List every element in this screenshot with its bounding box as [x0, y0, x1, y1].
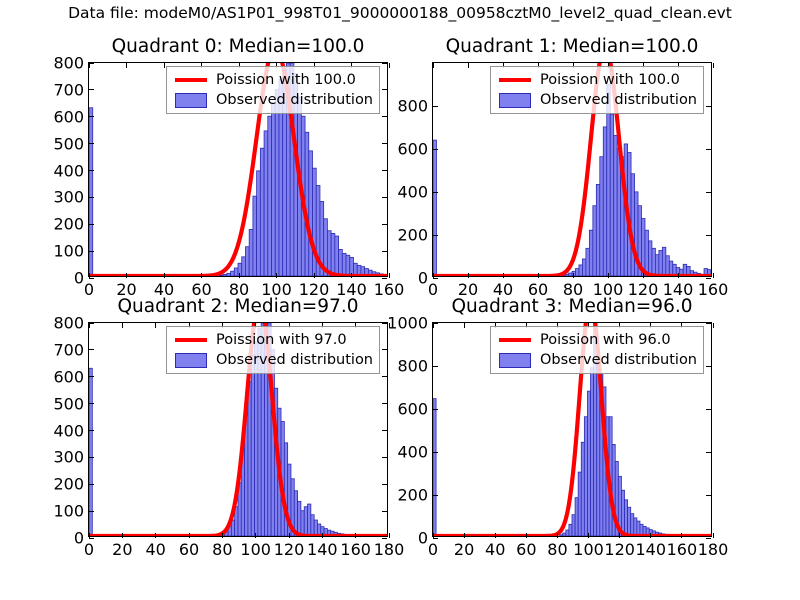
x-tick-mark — [255, 533, 256, 538]
histogram-bar — [566, 530, 569, 536]
x-tick-mark — [276, 273, 277, 278]
histogram-bar — [586, 248, 589, 276]
y-tick-mark — [382, 376, 387, 377]
histogram-bar — [260, 148, 264, 276]
x-tick-label: 120 — [604, 540, 635, 559]
panel-title: Quadrant 0: Median=100.0 — [88, 36, 388, 57]
x-tick-label: 40 — [485, 540, 505, 559]
x-tick-mark — [351, 273, 352, 278]
legend-line-key — [496, 78, 534, 83]
x-tick-mark — [526, 533, 527, 538]
histogram-bar — [331, 233, 335, 276]
y-tick-label: 0 — [418, 529, 428, 548]
histogram-bar — [569, 273, 572, 276]
x-tick-label: 20 — [454, 540, 474, 559]
x-tick-mark — [314, 273, 315, 278]
y-tick-mark — [89, 143, 94, 144]
histogram-bar — [234, 268, 238, 276]
y-tick-mark — [382, 63, 387, 64]
x-tick-mark — [164, 63, 165, 68]
y-tick-mark — [706, 106, 711, 107]
histogram-bar — [342, 253, 346, 276]
histogram-bar — [569, 524, 572, 536]
histogram-bar — [245, 247, 249, 276]
y-tick-label: 100 — [53, 502, 84, 521]
panel-title: Quadrant 1: Median=100.0 — [432, 36, 712, 57]
histogram-bar — [584, 417, 587, 536]
x-tick-mark — [495, 533, 496, 538]
x-tick-mark — [322, 533, 323, 538]
y-tick-label: 200 — [397, 226, 428, 245]
x-tick-mark — [126, 273, 127, 278]
x-tick-mark — [503, 273, 504, 278]
y-tick-label: 600 — [397, 140, 428, 159]
histogram-bar — [257, 171, 261, 276]
histogram-bar — [634, 518, 637, 536]
y-tick-label: 400 — [53, 421, 84, 440]
y-tick-mark — [433, 149, 438, 150]
legend-box: Poission with 100.0 Observed distributio… — [490, 66, 704, 114]
legend-box: Poission with 100.0 Observed distributio… — [166, 66, 380, 114]
x-tick-mark — [678, 273, 679, 278]
y-tick-label: 400 — [397, 443, 428, 462]
y-tick-mark — [433, 452, 438, 453]
y-tick-mark — [706, 323, 711, 324]
y-tick-mark — [89, 251, 94, 252]
x-tick-mark — [643, 273, 644, 278]
y-tick-label: 300 — [53, 188, 84, 207]
histogram-bar — [591, 368, 594, 536]
histogram-bar — [582, 259, 585, 276]
y-tick-mark — [89, 63, 94, 64]
histogram-bar — [575, 498, 578, 536]
y-tick-label: 200 — [53, 475, 84, 494]
legend-patch-key — [172, 93, 210, 108]
legend-patch-key — [172, 353, 210, 368]
histogram-bar — [596, 184, 599, 276]
x-tick-mark — [389, 533, 390, 538]
histogram-bar — [327, 231, 331, 276]
histogram-bar — [659, 250, 662, 276]
y-tick-mark — [89, 457, 94, 458]
legend-label-poisson: Poission with 96.0 — [540, 332, 671, 348]
x-tick-label: 40 — [145, 540, 165, 559]
y-tick-mark — [382, 197, 387, 198]
y-tick-mark — [382, 116, 387, 117]
histogram-bar — [346, 255, 350, 276]
y-tick-mark — [706, 235, 711, 236]
y-tick-mark — [433, 538, 438, 539]
x-tick-mark — [468, 273, 469, 278]
y-tick-mark — [382, 170, 387, 171]
x-tick-mark — [464, 323, 465, 328]
histogram-bar — [268, 116, 272, 276]
histogram-bar — [313, 168, 317, 276]
x-tick-mark — [713, 63, 714, 68]
y-tick-mark — [382, 278, 387, 279]
y-tick-mark — [89, 511, 94, 512]
x-tick-mark — [222, 533, 223, 538]
legend-row-observed: Observed distribution — [172, 350, 373, 370]
y-tick-mark — [89, 538, 94, 539]
y-tick-mark — [382, 323, 387, 324]
panel-title: Quadrant 3: Median=96.0 — [432, 296, 712, 317]
x-tick-label: 100 — [240, 540, 271, 559]
x-tick-label: 160 — [667, 540, 698, 559]
histogram-bar — [579, 265, 582, 276]
legend-row-observed: Observed distribution — [172, 90, 373, 110]
histogram-bar — [251, 355, 254, 536]
y-tick-label: 400 — [397, 183, 428, 202]
x-tick-mark — [464, 533, 465, 538]
y-tick-mark — [706, 409, 711, 410]
y-tick-label: 600 — [53, 107, 84, 126]
x-tick-mark — [389, 273, 390, 278]
x-tick-label: 160 — [340, 540, 371, 559]
histogram-bar — [304, 507, 307, 536]
x-tick-mark — [89, 273, 90, 278]
legend-row-poisson: Poission with 100.0 — [496, 70, 697, 90]
histogram-bar — [264, 131, 268, 276]
y-tick-mark — [89, 349, 94, 350]
y-tick-mark — [89, 484, 94, 485]
legend-row-poisson: Poission with 96.0 — [496, 330, 697, 350]
y-tick-mark — [433, 366, 438, 367]
y-tick-mark — [89, 197, 94, 198]
y-tick-mark — [89, 89, 94, 90]
x-tick-mark — [433, 63, 434, 68]
x-tick-mark — [89, 63, 90, 68]
histogram-bar — [637, 521, 640, 536]
histogram-bar — [572, 515, 575, 536]
y-tick-mark — [89, 403, 94, 404]
y-tick-mark — [382, 538, 387, 539]
y-tick-mark — [433, 323, 438, 324]
y-tick-mark — [382, 430, 387, 431]
figure-canvas: Data file: modeM0/AS1P01_998T01_90000001… — [0, 0, 800, 600]
panel-quadrant-0: Quadrant 0: Median=100.0 010020030040050… — [88, 62, 388, 277]
legend-row-observed: Observed distribution — [496, 90, 697, 110]
histogram-bar — [610, 114, 613, 276]
histogram-bar — [587, 391, 590, 536]
y-tick-mark — [382, 403, 387, 404]
legend-row-poisson: Poission with 100.0 — [172, 70, 373, 90]
y-tick-mark — [89, 116, 94, 117]
x-tick-mark — [122, 533, 123, 538]
histogram-bar — [308, 504, 311, 536]
x-tick-mark — [557, 533, 558, 538]
y-tick-mark — [382, 457, 387, 458]
histogram-bar — [631, 174, 634, 276]
y-tick-label: 200 — [53, 215, 84, 234]
histogram-bar — [652, 248, 655, 276]
histogram-bar — [275, 90, 279, 276]
y-tick-label: 800 — [53, 314, 84, 333]
histogram-bar — [223, 274, 227, 276]
y-tick-mark — [433, 192, 438, 193]
x-tick-mark — [433, 533, 434, 538]
histogram-bar — [589, 230, 592, 276]
histogram-bar — [339, 249, 343, 276]
y-tick-mark — [382, 349, 387, 350]
x-tick-mark — [713, 533, 714, 538]
x-tick-label: 0 — [428, 540, 438, 559]
histogram-bar — [648, 241, 651, 276]
histogram-bar — [335, 236, 339, 276]
x-tick-mark — [164, 273, 165, 278]
x-tick-mark — [389, 63, 390, 68]
legend-label-observed: Observed distribution — [540, 352, 697, 368]
x-tick-mark — [189, 533, 190, 538]
y-tick-label: 100 — [53, 242, 84, 261]
y-tick-mark — [382, 89, 387, 90]
histogram-bar — [578, 472, 581, 536]
x-tick-mark — [433, 323, 434, 328]
y-tick-mark — [433, 278, 438, 279]
x-tick-label: 100 — [573, 540, 604, 559]
y-tick-label: 300 — [53, 448, 84, 467]
y-tick-label: 500 — [53, 394, 84, 413]
x-tick-mark — [713, 273, 714, 278]
histogram-bar — [311, 515, 314, 536]
histogram-bar — [603, 127, 606, 276]
histogram-bar — [593, 206, 596, 276]
x-tick-mark — [681, 533, 682, 538]
legend-line-key — [172, 78, 210, 83]
y-tick-mark — [89, 430, 94, 431]
y-tick-mark — [433, 495, 438, 496]
histogram-bar — [669, 261, 672, 276]
y-tick-label: 0 — [418, 269, 428, 288]
x-tick-mark — [289, 533, 290, 538]
histogram-bar — [631, 514, 634, 536]
panel-quadrant-2: Quadrant 2: Median=97.0 0100200300400500… — [88, 322, 388, 537]
y-tick-label: 700 — [53, 340, 84, 359]
x-tick-mark — [538, 273, 539, 278]
y-tick-mark — [89, 278, 94, 279]
x-tick-label: 60 — [516, 540, 536, 559]
legend-box: Poission with 97.0 Observed distribution — [166, 326, 380, 374]
y-tick-mark — [89, 170, 94, 171]
legend-label-poisson: Poission with 97.0 — [216, 332, 347, 348]
histogram-bar — [242, 257, 246, 276]
x-tick-label: 60 — [179, 540, 199, 559]
histogram-bar — [655, 255, 658, 276]
y-tick-label: 800 — [53, 54, 84, 73]
legend-patch-key — [496, 93, 534, 108]
x-tick-mark — [468, 63, 469, 68]
histogram-bar — [298, 501, 301, 536]
x-tick-label: 80 — [212, 540, 232, 559]
y-tick-label: 400 — [53, 161, 84, 180]
legend-label-poisson: Poission with 100.0 — [216, 72, 356, 88]
legend-line-key — [496, 338, 534, 343]
y-tick-mark — [433, 106, 438, 107]
x-tick-mark — [608, 273, 609, 278]
y-tick-mark — [706, 278, 711, 279]
x-tick-mark — [126, 63, 127, 68]
x-tick-mark — [650, 533, 651, 538]
y-tick-label: 200 — [397, 486, 428, 505]
histogram-bar — [614, 135, 617, 276]
histogram-bar — [645, 230, 648, 276]
y-tick-label: 800 — [397, 357, 428, 376]
y-tick-label: 0 — [74, 269, 84, 288]
legend-row-poisson: Poission with 97.0 — [172, 330, 373, 350]
y-tick-label: 600 — [397, 400, 428, 419]
histogram-bar — [301, 511, 304, 536]
histogram-bar — [272, 103, 276, 276]
x-tick-label: 0 — [84, 540, 94, 559]
x-tick-mark — [239, 273, 240, 278]
y-tick-mark — [382, 484, 387, 485]
x-tick-mark — [155, 323, 156, 328]
histogram-bar — [227, 273, 231, 276]
histogram-bar — [565, 274, 568, 276]
y-tick-mark — [706, 452, 711, 453]
y-tick-mark — [382, 511, 387, 512]
y-tick-mark — [706, 192, 711, 193]
y-tick-label: 500 — [53, 134, 84, 153]
x-tick-label: 20 — [112, 540, 132, 559]
x-tick-label: 80 — [547, 540, 567, 559]
histogram-bar — [621, 490, 624, 536]
legend-patch-key — [496, 353, 534, 368]
y-tick-label: 800 — [397, 97, 428, 116]
histogram-bar — [249, 229, 253, 276]
histogram-bar — [433, 140, 436, 276]
panel-quadrant-1: Quadrant 1: Median=100.0 020040060080002… — [432, 62, 712, 277]
y-tick-mark — [89, 376, 94, 377]
y-tick-label: 0 — [74, 529, 84, 548]
x-tick-mark — [89, 323, 90, 328]
histogram-bar — [309, 151, 313, 276]
histogram-bar — [666, 256, 669, 276]
x-tick-mark — [433, 273, 434, 278]
x-tick-label: 140 — [307, 540, 338, 559]
y-tick-mark — [433, 409, 438, 410]
legend-label-poisson: Poission with 100.0 — [540, 72, 680, 88]
y-tick-label: 700 — [53, 80, 84, 99]
y-tick-mark — [89, 224, 94, 225]
y-tick-mark — [382, 251, 387, 252]
x-tick-mark — [355, 533, 356, 538]
histogram-bar — [433, 399, 436, 536]
legend-label-observed: Observed distribution — [216, 92, 373, 108]
legend-row-observed: Observed distribution — [496, 350, 697, 370]
histogram-bar — [625, 500, 628, 536]
y-tick-label: 1000 — [387, 314, 428, 333]
histogram-bar — [231, 271, 235, 276]
x-tick-mark — [713, 323, 714, 328]
x-tick-mark — [573, 273, 574, 278]
histogram-bar — [628, 507, 631, 536]
histogram-bar — [600, 157, 603, 276]
histogram-bar — [662, 247, 665, 276]
histogram-bar — [560, 535, 563, 536]
x-tick-mark — [201, 273, 202, 278]
y-tick-mark — [382, 143, 387, 144]
histogram-bar — [563, 533, 566, 536]
x-tick-label: 180 — [374, 540, 405, 559]
y-tick-mark — [706, 366, 711, 367]
histogram-bar — [581, 442, 584, 536]
y-tick-mark — [706, 538, 711, 539]
x-tick-mark — [155, 533, 156, 538]
y-tick-mark — [706, 495, 711, 496]
histogram-bar — [248, 382, 251, 536]
y-tick-mark — [89, 323, 94, 324]
legend-line-key — [172, 338, 210, 343]
x-tick-mark — [619, 533, 620, 538]
figure-suptitle: Data file: modeM0/AS1P01_998T01_90000001… — [0, 4, 800, 22]
panel-title: Quadrant 2: Median=97.0 — [88, 296, 388, 317]
x-tick-label: 120 — [274, 540, 305, 559]
legend-label-observed: Observed distribution — [540, 92, 697, 108]
y-tick-label: 600 — [53, 367, 84, 386]
y-tick-mark — [382, 224, 387, 225]
panel-quadrant-3: Quadrant 3: Median=96.0 0200400600800100… — [432, 322, 712, 537]
y-tick-mark — [706, 149, 711, 150]
histogram-bar — [575, 269, 578, 276]
y-tick-mark — [433, 235, 438, 236]
histogram-bar — [314, 520, 317, 536]
x-tick-mark — [89, 533, 90, 538]
legend-label-observed: Observed distribution — [216, 352, 373, 368]
legend-box: Poission with 96.0 Observed distribution — [490, 326, 704, 374]
histogram-bar — [253, 196, 257, 276]
x-tick-label: 180 — [698, 540, 729, 559]
x-tick-label: 140 — [635, 540, 666, 559]
x-tick-mark — [122, 323, 123, 328]
x-tick-mark — [588, 533, 589, 538]
